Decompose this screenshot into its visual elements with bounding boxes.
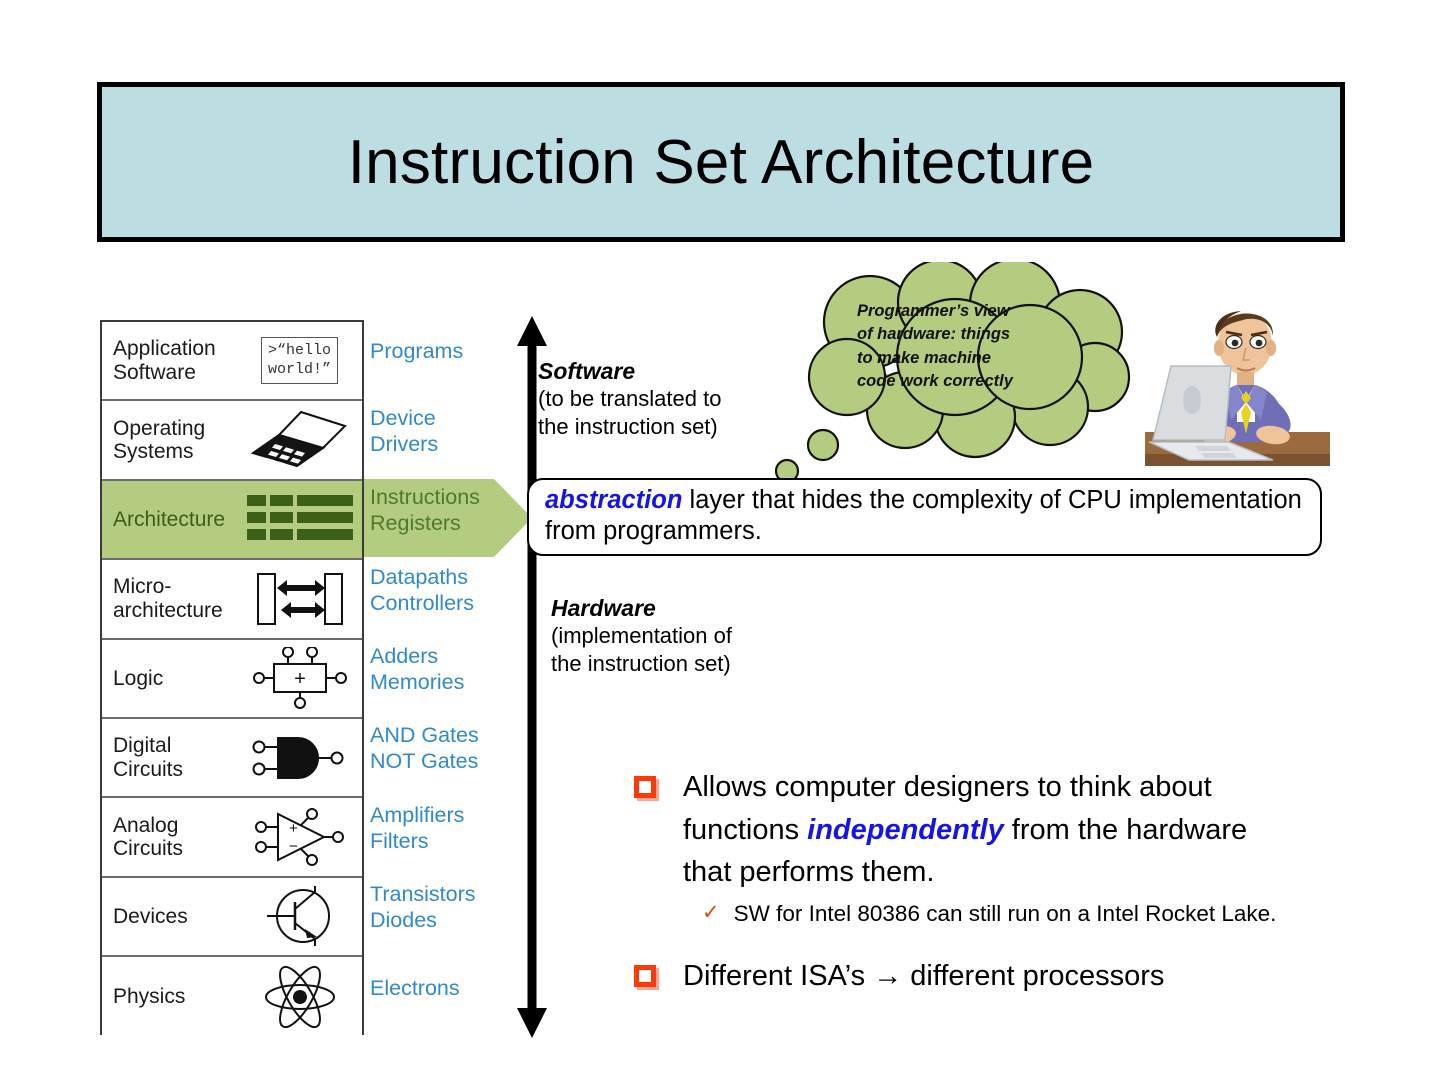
- thought-bubble-line2: of hardware: things: [857, 323, 1097, 346]
- layer-name: Digital Circuits: [102, 734, 237, 781]
- layer-name: Devices: [102, 905, 237, 929]
- hardware-annotation-line2: the instruction set): [551, 650, 801, 678]
- layer-row-analog-circuits: Analog Circuits + −: [102, 798, 362, 877]
- layer-name: Physics: [102, 985, 237, 1009]
- layer-row-devices: Devices: [102, 878, 362, 957]
- layer-output-labels: Programs Device Drivers Instructions Reg…: [366, 320, 526, 1035]
- layer-row-operating-systems: Operating Systems: [102, 401, 362, 480]
- layer-label-datapaths-controllers: Datapaths Controllers: [370, 564, 526, 616]
- layer-label-programs: Programs: [370, 338, 526, 364]
- software-annotation-line1: (to be translated to: [538, 385, 788, 413]
- layer-label-instructions-registers: Instructions Registers: [370, 484, 526, 536]
- abstraction-callout-text: abstraction layer that hides the complex…: [545, 485, 1306, 547]
- layer-row-physics: Physics: [102, 957, 362, 1036]
- thought-bubble-line1: Programmer’s view: [857, 300, 1097, 323]
- svg-text:+: +: [289, 820, 298, 837]
- sub-bullet-item-1: ✓ SW for Intel 80386 can still run on a …: [702, 898, 1334, 931]
- layer-row-microarchitecture: Micro- architecture: [102, 560, 362, 639]
- bullet-item-1-text: Allows computer designers to think about…: [683, 766, 1283, 894]
- bullet-1-emphasis: independently: [807, 814, 1004, 846]
- square-bullet-icon: [634, 965, 656, 987]
- hardware-annotation-title: Hardware: [551, 594, 801, 622]
- instruction-bars-icon: [237, 481, 362, 558]
- layer-row-digital-circuits: Digital Circuits: [102, 719, 362, 798]
- layer-row-architecture: Architecture: [102, 481, 362, 560]
- atom-icon: [237, 957, 362, 1036]
- layer-name: Analog Circuits: [102, 814, 237, 861]
- layer-label-adders-memories: Adders Memories: [370, 643, 526, 695]
- abstraction-keyword: abstraction: [545, 486, 682, 514]
- thought-bubble: Programmer’s view of hardware: things to…: [765, 262, 1165, 482]
- svg-text:−: −: [289, 838, 298, 855]
- bullet-list: Allows computer designers to think about…: [634, 766, 1334, 1001]
- layer-row-application-software: Application Software >“hello world!”: [102, 322, 362, 401]
- layer-name: Micro- architecture: [102, 575, 237, 622]
- bullet-item-2-text: Different ISA’s → different processors: [683, 955, 1164, 998]
- hardware-annotation: Hardware (implementation of the instruct…: [551, 594, 801, 677]
- transistor-icon: [237, 878, 362, 955]
- abstraction-layer-stack: Application Software >“hello world!” Ope…: [100, 320, 364, 1035]
- thought-bubble-line4: code work correctly: [857, 370, 1097, 393]
- abstraction-callout-box: abstraction layer that hides the complex…: [527, 478, 1322, 556]
- hello-world-text: >“hello world!”: [261, 337, 338, 385]
- adder-block-icon: +: [237, 640, 362, 717]
- sub-bullet-item-1-text: SW for Intel 80386 can still run on a In…: [734, 898, 1294, 931]
- layer-label-electrons: Electrons: [370, 975, 526, 1001]
- software-annotation-title: Software: [538, 357, 788, 385]
- datapath-blocks-icon: [237, 560, 362, 637]
- layer-name: Operating Systems: [102, 417, 237, 464]
- thought-bubble-line3: to make machine: [857, 347, 1097, 370]
- laptop-icon: [237, 401, 362, 478]
- bullet-item-1: Allows computer designers to think about…: [634, 766, 1334, 894]
- layer-label-and-not-gates: AND Gates NOT Gates: [370, 722, 526, 774]
- layer-label-transistors-diodes: Transistors Diodes: [370, 881, 526, 933]
- page-title: Instruction Set Architecture: [348, 127, 1095, 198]
- and-gate-icon: [237, 719, 362, 796]
- hardware-annotation-line1: (implementation of: [551, 622, 801, 650]
- layer-name: Logic: [102, 667, 237, 691]
- layer-name: Application Software: [102, 337, 237, 384]
- check-icon: ✓: [702, 900, 720, 925]
- slide-title-bar: Instruction Set Architecture: [97, 82, 1345, 242]
- layer-label-amplifiers-filters: Amplifiers Filters: [370, 802, 526, 854]
- terminal-hello-world-icon: >“hello world!”: [237, 322, 362, 399]
- software-annotation-line2: the instruction set): [538, 413, 788, 441]
- thought-bubble-text: Programmer’s view of hardware: things to…: [857, 300, 1097, 394]
- svg-text:+: +: [294, 668, 306, 690]
- programmer-at-laptop-illustration: [1145, 292, 1330, 472]
- square-bullet-icon: [634, 776, 656, 798]
- opamp-icon: + −: [237, 798, 362, 875]
- layer-name: Architecture: [102, 508, 237, 532]
- software-annotation: Software (to be translated to the instru…: [538, 357, 788, 440]
- layer-row-logic: Logic +: [102, 640, 362, 719]
- bullet-item-2: Different ISA’s → different processors: [634, 955, 1334, 998]
- layer-label-device-drivers: Device Drivers: [370, 405, 526, 457]
